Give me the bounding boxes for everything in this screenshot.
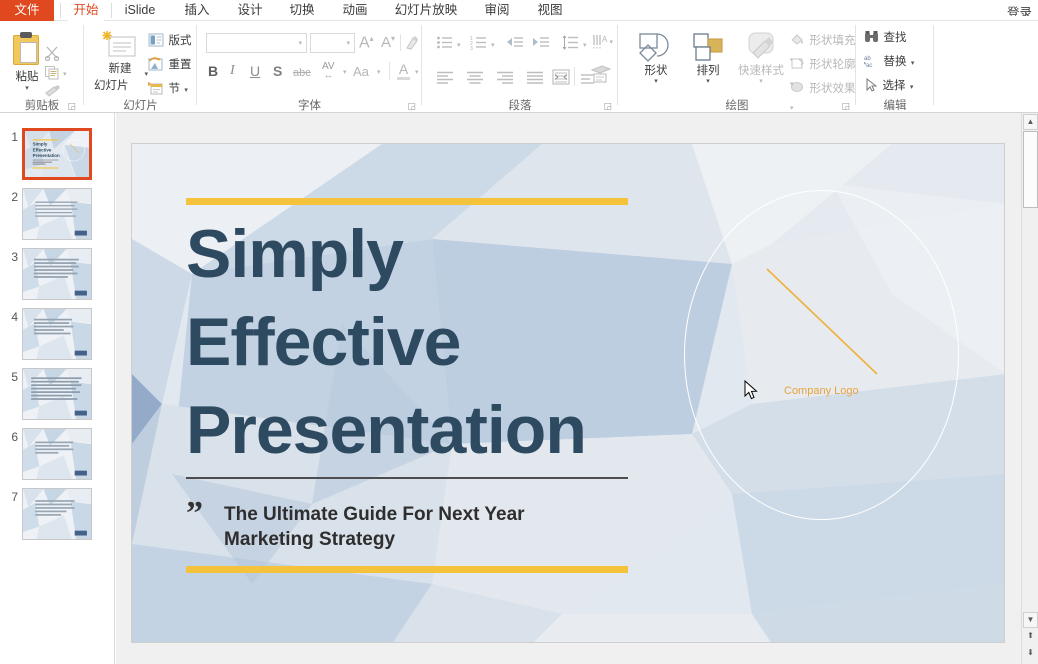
- underline-button[interactable]: U: [250, 63, 260, 79]
- character-spacing-caret[interactable]: ▾: [343, 69, 347, 76]
- justify-icon: [526, 71, 544, 84]
- ribbon-group-drawing: 形状 ▾ 排列 ▾ 快速样式 ▾: [618, 21, 856, 113]
- decrease-indent-button[interactable]: [506, 36, 524, 54]
- grow-font-button[interactable]: A▴: [359, 34, 374, 52]
- quick-styles-button[interactable]: 快速样式 ▾: [734, 29, 788, 85]
- shrink-font-button[interactable]: A▾: [381, 34, 395, 51]
- replace-button[interactable]: ab ac 替换 ▾: [864, 52, 914, 70]
- reset-button[interactable]: 重置: [148, 55, 191, 73]
- slide-number: 1: [4, 130, 18, 144]
- numbering-icon: 123: [470, 35, 488, 50]
- change-case-button[interactable]: Aa: [353, 64, 369, 79]
- ribbon-group-editing: 查找 ab ac 替换 ▾ 选择 ▾ 编辑: [856, 21, 934, 113]
- shrink-font-glyph: A: [381, 34, 391, 51]
- font-size-input[interactable]: ▾: [310, 33, 355, 53]
- ribbon: 粘贴 ▾ ▾ 剪贴板 ◲: [0, 21, 1038, 113]
- tab-separator-2: [111, 3, 112, 18]
- tab-view[interactable]: 视图: [528, 0, 572, 21]
- paste-dropdown-caret[interactable]: ▾: [8, 85, 46, 92]
- justify-button[interactable]: [526, 71, 544, 89]
- shape-outline-icon: [790, 57, 805, 70]
- slide-number: 5: [4, 370, 18, 384]
- tab-file[interactable]: 文件: [0, 0, 54, 21]
- copy-icon: [44, 65, 61, 80]
- slide-thumbnail-panel[interactable]: 1 Simply Effective Presentation: [0, 113, 115, 664]
- shapes-button[interactable]: 形状 ▾: [632, 29, 680, 85]
- arrange-icon: [688, 29, 728, 65]
- select-label: 选择: [882, 80, 905, 92]
- svg-text:Effective: Effective: [33, 147, 52, 152]
- slide-subtitle[interactable]: The Ultimate Guide For Next Year Marketi…: [224, 502, 584, 552]
- shapes-icon: [634, 29, 678, 65]
- ribbon-group-label-slides: 幻灯片: [84, 100, 197, 112]
- list-item[interactable]: 2: [0, 188, 115, 248]
- tab-slideshow[interactable]: 幻灯片放映: [386, 0, 466, 21]
- font-name-caret[interactable]: ▾: [298, 40, 302, 47]
- shape-effects-label: 形状效果: [809, 83, 855, 95]
- thumb-graphic: [23, 189, 91, 239]
- ribbon-group-slides: 新建 幻灯片▾ 版式 ▾ 重置: [84, 21, 197, 113]
- arrange-button[interactable]: 排列 ▾: [684, 29, 732, 85]
- next-slide-button[interactable]: ⬇: [1023, 646, 1038, 662]
- thumb-graphic: [23, 249, 91, 299]
- slide-thumbnail-2[interactable]: [22, 188, 92, 240]
- shapes-label: 形状: [632, 65, 680, 78]
- tab-transitions[interactable]: 切换: [280, 0, 324, 21]
- new-slide-button[interactable]: 新建 幻灯片▾: [94, 29, 146, 94]
- shape-fill-label: 形状填充: [809, 35, 855, 47]
- thumb-graphic: [23, 369, 91, 419]
- clipboard-clip-icon: [20, 32, 32, 38]
- slide-thumbnail-1[interactable]: Simply Effective Presentation: [22, 128, 92, 180]
- tab-separator: [60, 3, 61, 18]
- new-slide-icon: [100, 29, 140, 63]
- align-left-icon: [436, 71, 454, 84]
- slide-number: 3: [4, 250, 18, 264]
- section-icon: [148, 81, 164, 95]
- copy-dropdown-caret[interactable]: ▾: [63, 71, 67, 78]
- group-divider: [933, 25, 934, 105]
- change-case-caret[interactable]: ▾: [377, 69, 381, 76]
- thumb-graphic: Simply Effective Presentation: [25, 131, 89, 177]
- convert-smartart-button[interactable]: [590, 65, 612, 88]
- logo-slash-icon: [762, 264, 892, 384]
- font-size-caret[interactable]: ▾: [346, 40, 350, 47]
- shape-outline-label: 形状轮廓: [809, 59, 855, 71]
- scissors-icon: [44, 45, 61, 61]
- paste-sheet-icon: [20, 42, 37, 63]
- scroll-up-button[interactable]: ▲: [1023, 114, 1038, 130]
- thumb-graphic: [23, 429, 91, 479]
- list-item[interactable]: 7: [0, 488, 115, 548]
- new-slide-label-2: 幻灯片: [94, 80, 129, 93]
- slide-thumbnail-5[interactable]: [22, 368, 92, 420]
- find-button[interactable]: 查找: [864, 28, 906, 46]
- list-item[interactable]: 1 Simply Effective Presentation: [0, 128, 115, 188]
- italic-button[interactable]: I: [230, 63, 235, 79]
- tab-insert[interactable]: 插入: [175, 0, 219, 21]
- section-label: 节: [168, 83, 180, 95]
- copy-button[interactable]: ▾: [44, 65, 61, 85]
- shapes-caret[interactable]: ▾: [632, 78, 680, 85]
- vertical-scrollbar[interactable]: ▲ ▼ ⬆ ⬇: [1021, 113, 1038, 664]
- ribbon-tab-bar: 文件 开始 iSlide 插入 设计 切换 动画 幻灯片放映 审阅 视图 登录: [0, 0, 1038, 21]
- increase-indent-icon: [532, 36, 550, 49]
- align-left-button[interactable]: [436, 71, 454, 89]
- layout-label: 版式: [168, 35, 191, 47]
- bold-button[interactable]: B: [208, 63, 218, 79]
- svg-text:ac: ac: [866, 63, 872, 68]
- increase-indent-button[interactable]: [532, 36, 550, 54]
- ribbon-group-label-font: 字体: [197, 100, 422, 112]
- drawing-dialog-launcher[interactable]: ◲: [841, 102, 850, 111]
- font-name-input[interactable]: ▾: [206, 33, 307, 53]
- replace-label: 替换: [883, 56, 906, 68]
- title-divider-rule: [186, 477, 628, 479]
- bottom-accent-bar: [186, 566, 628, 573]
- align-center-button[interactable]: [466, 71, 484, 89]
- slide-number: 7: [4, 490, 18, 504]
- paste-button[interactable]: 粘贴 ▾: [8, 29, 46, 95]
- replace-icon: ab ac: [864, 54, 879, 68]
- clipboard-dialog-launcher[interactable]: ◲: [67, 102, 76, 111]
- paragraph-dialog-launcher[interactable]: ◲: [603, 102, 612, 111]
- columns-button[interactable]: [552, 69, 572, 90]
- tab-islide[interactable]: iSlide: [114, 0, 166, 21]
- quick-styles-label: 快速样式: [734, 65, 788, 78]
- svg-text:Presentation: Presentation: [33, 153, 60, 158]
- svg-text:ab: ab: [864, 56, 871, 62]
- list-item[interactable]: 6: [0, 428, 115, 488]
- quick-styles-icon: [739, 29, 783, 65]
- paragraph-divider: [574, 67, 575, 86]
- scrollbar-thumb[interactable]: [1023, 131, 1038, 208]
- slide-thumbnail-3[interactable]: [22, 248, 92, 300]
- ribbon-group-label-paragraph: 段落: [422, 100, 618, 112]
- tab-animations[interactable]: 动画: [333, 0, 377, 21]
- svg-text:3: 3: [470, 46, 473, 50]
- line-spacing-caret[interactable]: ▾: [583, 42, 587, 49]
- section-button[interactable]: 节 ▾: [148, 79, 188, 97]
- find-label: 查找: [883, 32, 906, 44]
- reset-icon: [148, 57, 164, 71]
- numbering-caret[interactable]: ▾: [491, 42, 495, 49]
- tab-design[interactable]: 设计: [228, 0, 272, 21]
- font-color-button[interactable]: A: [397, 62, 410, 80]
- clear-formatting-icon: [404, 35, 420, 51]
- align-center-icon: [466, 71, 484, 84]
- ribbon-group-label-editing: 编辑: [856, 100, 934, 112]
- select-arrow-icon: [864, 78, 878, 92]
- svg-text:A: A: [602, 35, 608, 44]
- font-divider-2: [389, 62, 390, 80]
- format-painter-icon: [44, 84, 62, 98]
- binoculars-icon: [864, 30, 879, 43]
- text-shadow-button[interactable]: S: [273, 63, 282, 79]
- slide-number: 2: [4, 190, 18, 204]
- list-item[interactable]: 5: [0, 368, 115, 428]
- tab-review[interactable]: 审阅: [475, 0, 519, 21]
- font-dialog-launcher[interactable]: ◲: [407, 102, 416, 111]
- shape-fill-icon: [790, 33, 805, 46]
- section-dropdown-caret[interactable]: ▾: [184, 87, 188, 94]
- bullets-button[interactable]: [436, 35, 454, 55]
- list-item[interactable]: 3: [0, 248, 115, 308]
- slide-editing-area[interactable]: Simply Effective Presentation ” The Ulti…: [116, 113, 1021, 664]
- font-color-caret[interactable]: ▾: [415, 69, 419, 76]
- ribbon-group-paragraph: ▾ 123 ▾ ▾: [422, 21, 618, 113]
- slide-thumbnail-7[interactable]: [22, 488, 92, 540]
- current-slide[interactable]: Simply Effective Presentation ” The Ulti…: [131, 143, 1005, 643]
- text-direction-caret[interactable]: ▾: [609, 39, 613, 46]
- strikethrough-button[interactable]: abc: [293, 67, 311, 79]
- list-item[interactable]: 4: [0, 308, 115, 368]
- columns-icon: [552, 69, 572, 85]
- quick-styles-caret[interactable]: ▾: [734, 78, 788, 85]
- smartart-icon: [590, 65, 612, 83]
- align-right-button[interactable]: [496, 71, 514, 89]
- align-right-icon: [496, 71, 514, 84]
- character-spacing-button[interactable]: AV↔: [322, 62, 335, 80]
- tab-home[interactable]: 开始: [64, 0, 108, 21]
- new-slide-label-1: 新建: [94, 63, 146, 76]
- thumb-graphic: [23, 309, 91, 359]
- layout-icon: [148, 33, 164, 47]
- previous-slide-button[interactable]: ⬆: [1023, 629, 1038, 645]
- cut-button[interactable]: [44, 45, 61, 66]
- slide-number: 4: [4, 310, 18, 324]
- ribbon-group-font: ▾ ▾ A▴ A▾ B I U S abc AV↔ ▾ Aa ▾ A ▾: [197, 21, 422, 113]
- top-accent-bar: [186, 198, 628, 205]
- company-logo-placeholder[interactable]: Company Logo: [784, 385, 859, 397]
- slide-thumbnail-6[interactable]: [22, 428, 92, 480]
- quote-icon: ”: [186, 497, 203, 531]
- ribbon-group-clipboard: 粘贴 ▾ ▾ 剪贴板 ◲: [0, 21, 84, 113]
- sign-in-button[interactable]: 登录: [1007, 2, 1032, 16]
- bullets-icon: [436, 35, 454, 50]
- line-spacing-icon: [562, 35, 580, 50]
- slide-thumbnail-4[interactable]: [22, 308, 92, 360]
- arrange-caret[interactable]: ▾: [684, 78, 732, 85]
- reset-label: 重置: [168, 59, 191, 71]
- ribbon-group-label-drawing: 绘图: [618, 100, 856, 112]
- svg-text:Simply: Simply: [33, 142, 48, 147]
- thumb-graphic: [23, 489, 91, 539]
- slide-title[interactable]: Simply Effective Presentation: [186, 210, 656, 474]
- numbering-button[interactable]: 123: [470, 35, 488, 55]
- bullets-caret[interactable]: ▾: [457, 42, 461, 49]
- mouse-cursor: [744, 380, 760, 402]
- decrease-indent-icon: [506, 36, 524, 49]
- clear-formatting-button[interactable]: [404, 35, 420, 56]
- select-button[interactable]: 选择 ▾: [864, 76, 913, 94]
- grow-font-glyph: A: [359, 34, 370, 51]
- line-spacing-button[interactable]: [562, 35, 580, 55]
- font-color-glyph: A: [397, 62, 410, 76]
- scroll-down-button[interactable]: ▼: [1023, 612, 1038, 628]
- replace-caret[interactable]: ▾: [911, 60, 915, 67]
- font-divider: [400, 34, 401, 51]
- shape-effects-icon: [790, 81, 805, 94]
- slide-number: 6: [4, 430, 18, 444]
- font-color-swatch: [397, 77, 410, 80]
- select-caret[interactable]: ▾: [910, 84, 914, 91]
- arrange-label: 排列: [684, 65, 732, 78]
